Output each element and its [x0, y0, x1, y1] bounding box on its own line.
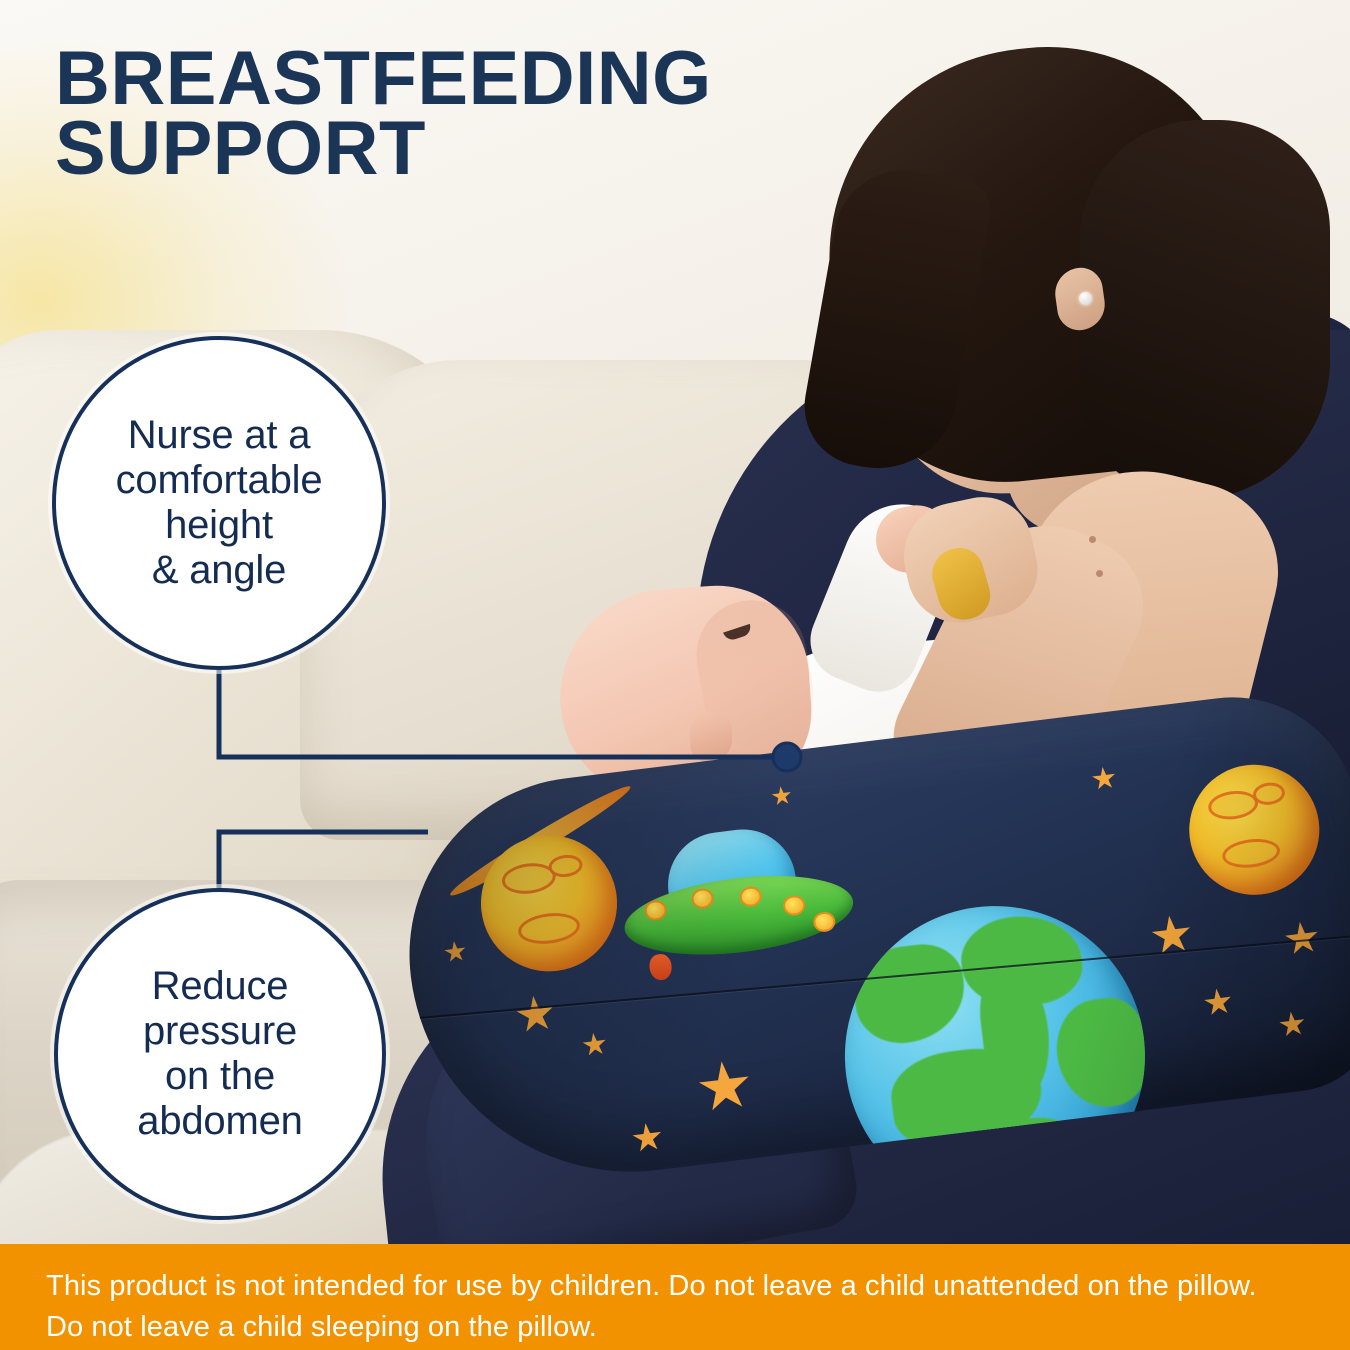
disclaimer-banner: This product is not intended for use by …: [0, 1244, 1350, 1350]
callout-marker-dot: [773, 743, 801, 771]
product-marketing-image: BREASTFEEDING SUPPORT Nurse at a comfort…: [0, 0, 1350, 1350]
callout-bubble-comfortable-height[interactable]: Nurse at a comfortable height & angle: [52, 336, 386, 670]
disclaimer-line-2: Do not leave a child sleeping on the pil…: [46, 1307, 1304, 1348]
connector-line-bottom: [219, 832, 428, 892]
page-title: BREASTFEEDING SUPPORT: [55, 44, 875, 184]
callout-bubble-reduce-pressure[interactable]: Reduce pressure on the abdomen: [54, 888, 386, 1220]
callout-text: Reduce pressure on the abdomen: [113, 964, 326, 1143]
callout-text: Nurse at a comfortable height & angle: [92, 413, 347, 592]
disclaimer-line-1: This product is not intended for use by …: [46, 1266, 1304, 1307]
connector-line-top: [219, 662, 787, 757]
